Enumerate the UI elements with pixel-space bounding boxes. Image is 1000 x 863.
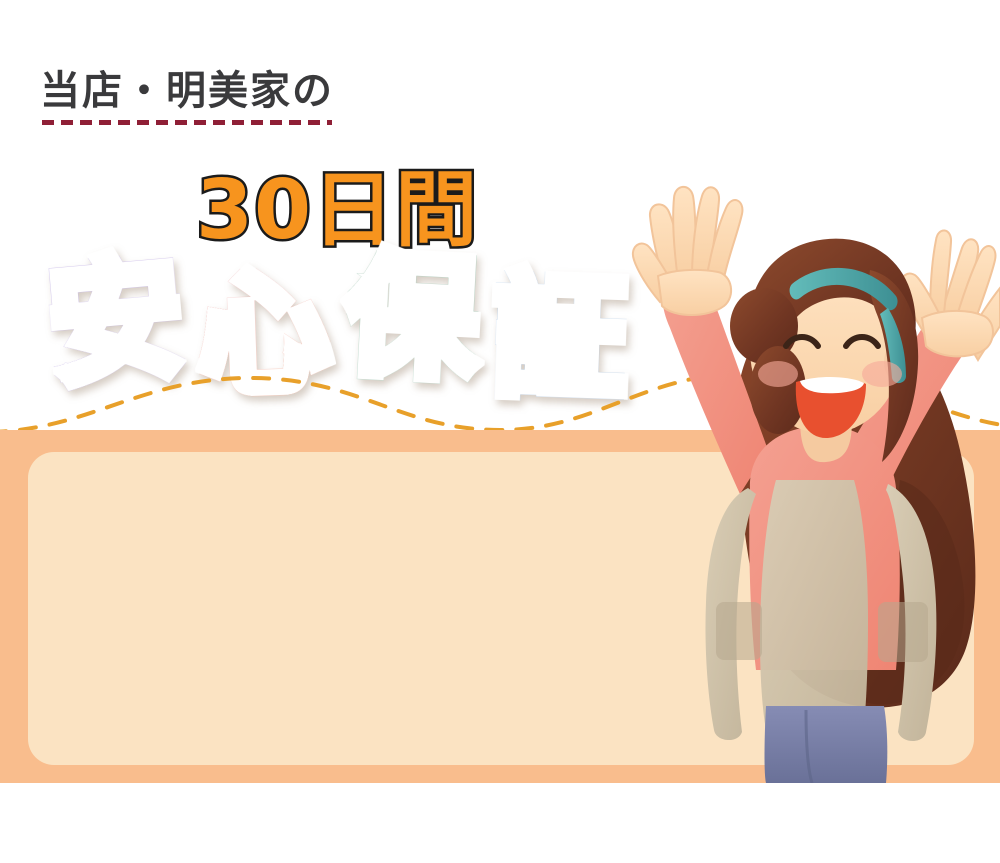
- guarantee-headline: 安 心 保 証: [50, 252, 650, 412]
- page-title: 当店・明美家の: [40, 68, 500, 114]
- guarantee-banner: 当店・明美家の 30日間 安 心 保 証: [0, 0, 1000, 863]
- guarantee-char-4: 証: [492, 270, 629, 407]
- header-block: 当店・明美家の: [40, 68, 500, 138]
- info-panel: [28, 452, 974, 765]
- guarantee-char-3: 保: [343, 249, 482, 388]
- guarantee-char-1: 安: [44, 250, 187, 393]
- duration-headline: 30日間: [196, 168, 478, 254]
- guarantee-char-2: 心: [196, 266, 333, 403]
- header-underline-rule: [42, 120, 332, 125]
